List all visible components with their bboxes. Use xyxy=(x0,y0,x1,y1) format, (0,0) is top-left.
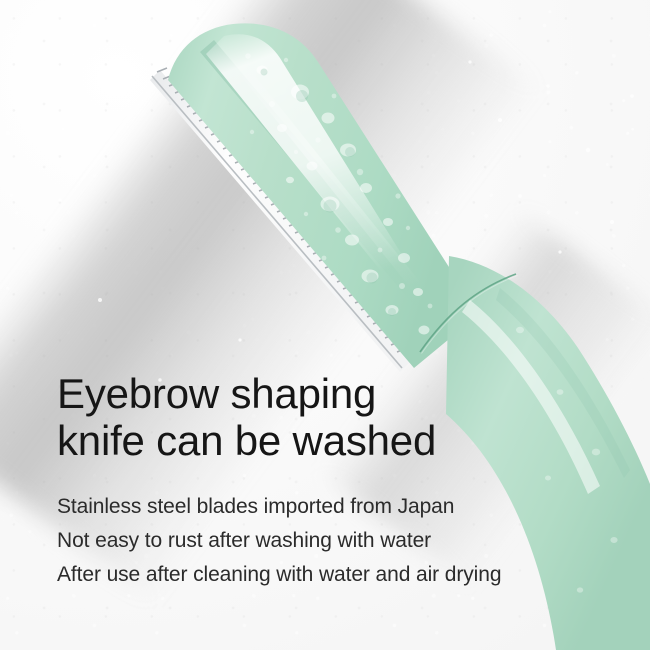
headline-line-2: knife can be washed xyxy=(57,417,597,464)
feature-item-1: Stainless steel blades imported from Jap… xyxy=(57,490,597,524)
feature-list: Stainless steel blades imported from Jap… xyxy=(57,490,597,592)
headline: Eyebrow shaping knife can be washed xyxy=(57,370,597,464)
blade-guard xyxy=(168,23,474,368)
feature-item-3: After use after cleaning with water and … xyxy=(57,558,597,592)
feature-item-2: Not easy to rust after washing with wate… xyxy=(57,524,597,558)
product-marketing-image: Eyebrow shaping knife can be washed Stai… xyxy=(0,0,650,650)
marketing-copy: Eyebrow shaping knife can be washed Stai… xyxy=(57,370,597,592)
headline-line-1: Eyebrow shaping xyxy=(57,370,597,417)
